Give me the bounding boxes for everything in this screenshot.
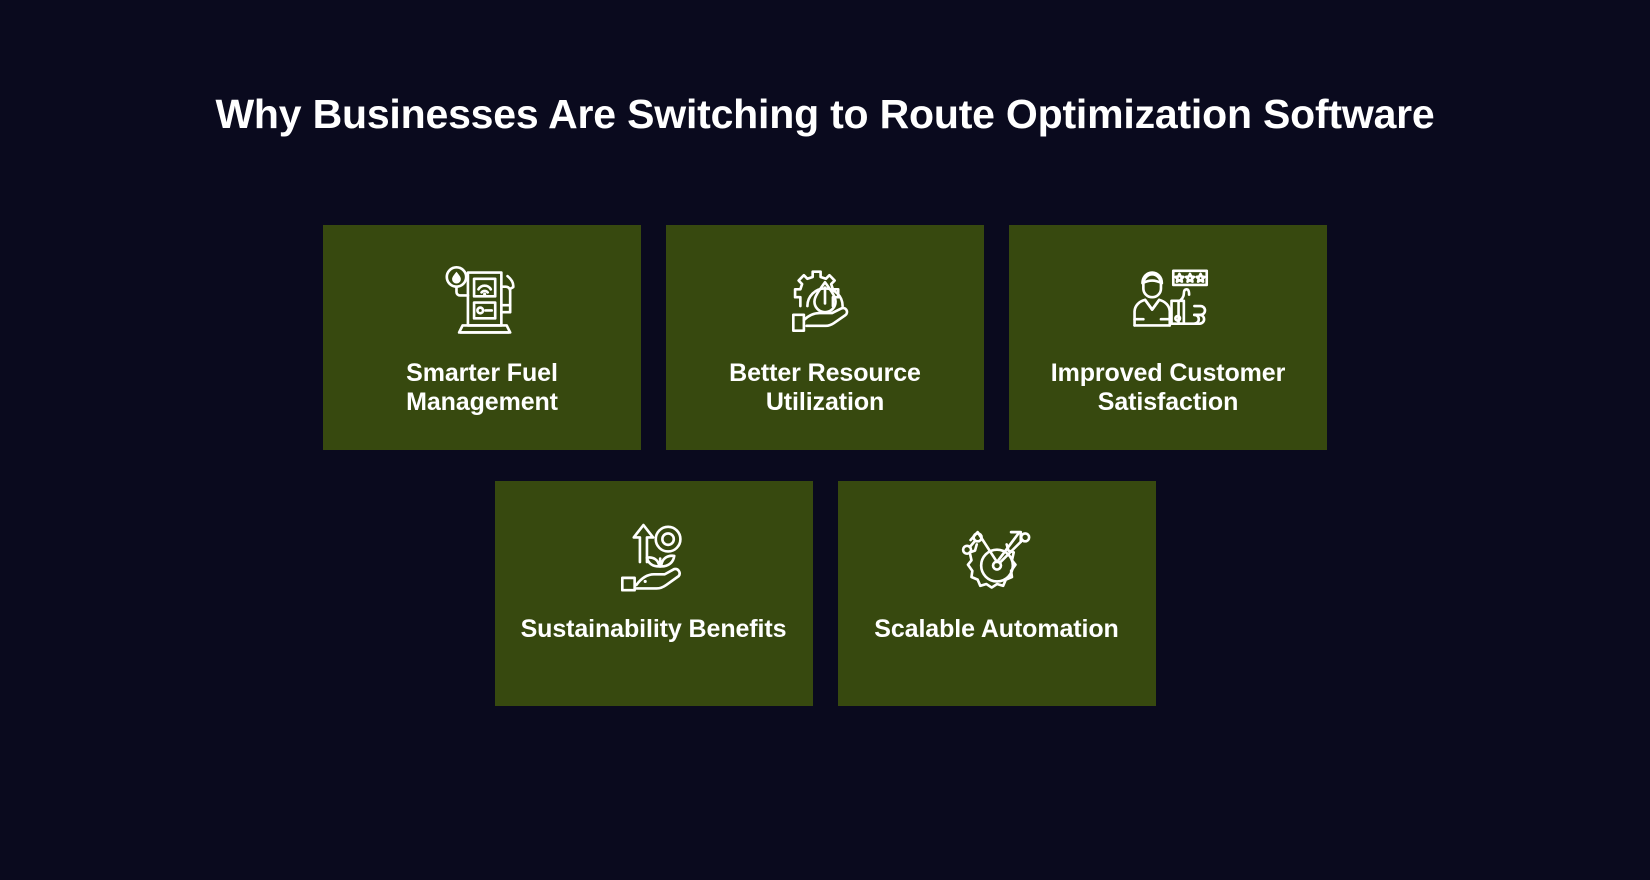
benefit-card-title: Improved Customer Satisfaction	[1028, 359, 1308, 418]
fuel-pump-icon	[436, 253, 528, 345]
benefit-card-scalable-automation[interactable]: Scalable Automation	[838, 481, 1156, 706]
card-row-2: Sustainability Benefits	[0, 481, 1650, 706]
benefit-card-improved-customer-satisfaction[interactable]: Improved Customer Satisfaction	[1009, 225, 1327, 450]
gear-trend-chart-icon	[951, 509, 1043, 601]
benefit-card-title: Smarter Fuel Management	[342, 359, 622, 418]
benefit-card-title: Better Resource Utilization	[685, 359, 965, 418]
infographic-page: Why Businesses Are Switching to Route Op…	[0, 0, 1650, 880]
hand-plant-growth-icon	[608, 509, 700, 601]
benefit-card-title: Scalable Automation	[874, 615, 1118, 644]
benefit-card-title: Sustainability Benefits	[521, 615, 787, 644]
benefits-card-grid: Smarter Fuel Management	[0, 225, 1650, 706]
page-title: Why Businesses Are Switching to Route Op…	[0, 92, 1650, 138]
benefit-card-sustainability-benefits[interactable]: Sustainability Benefits	[495, 481, 813, 706]
benefit-card-better-resource-utilization[interactable]: Better Resource Utilization	[666, 225, 984, 450]
gear-leaf-hand-icon	[779, 253, 871, 345]
benefit-card-smarter-fuel-management[interactable]: Smarter Fuel Management	[323, 225, 641, 450]
customer-rating-thumbs-up-icon	[1122, 253, 1214, 345]
card-row-1: Smarter Fuel Management	[0, 225, 1650, 450]
